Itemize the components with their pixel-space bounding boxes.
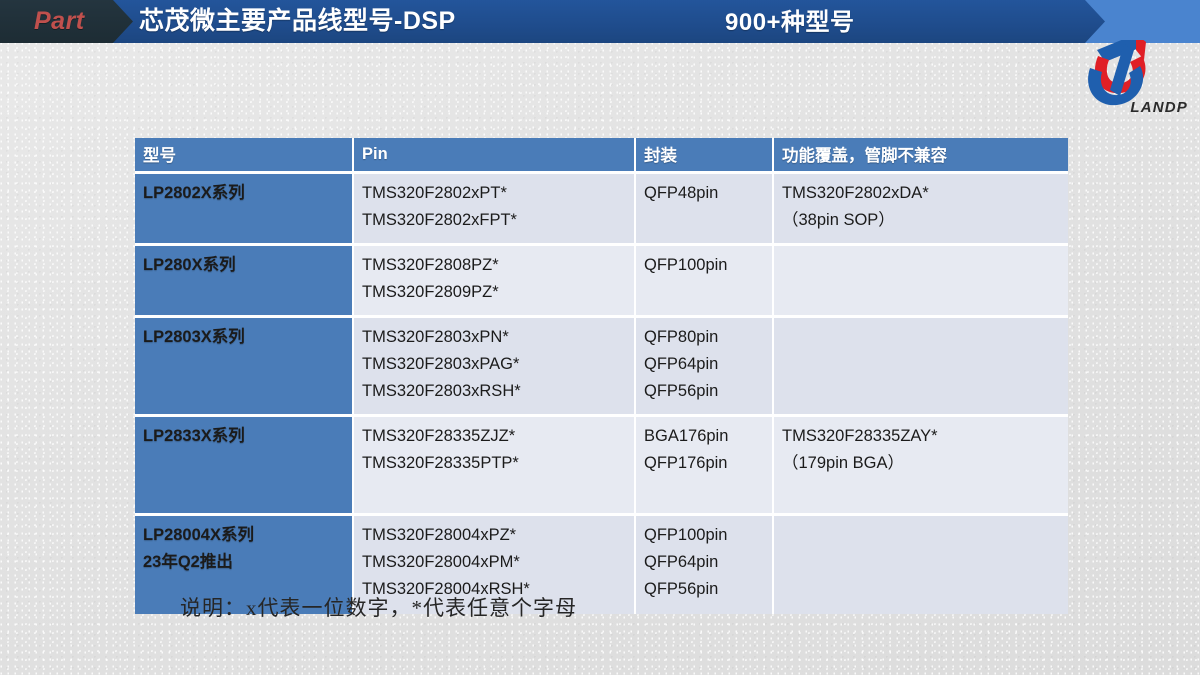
cell-package: QFP100pin (635, 245, 773, 317)
cell-pin: TMS320F28335ZJZ* TMS320F28335PTP* (353, 416, 635, 515)
cell-package: BGA176pin QFP176pin (635, 416, 773, 515)
cell-package: QFP48pin (635, 173, 773, 245)
col-header-coverage: 功能覆盖，管脚不兼容 (773, 138, 1068, 173)
cell-package: QFP80pin QFP64pin QFP56pin (635, 317, 773, 416)
header-banner: Part 芯茂微主要产品线型号-DSP 900+种型号 (0, 0, 1200, 43)
cell-pin: TMS320F2802xPT* TMS320F2802xFPT* (353, 173, 635, 245)
cell-package: QFP100pin QFP64pin QFP56pin (635, 515, 773, 614)
landp-logo: LANDP (1074, 40, 1194, 118)
slide-canvas: Part 芯茂微主要产品线型号-DSP 900+种型号 LANDP 型号 Pin… (0, 0, 1200, 675)
col-header-model: 型号 (135, 138, 353, 173)
model-count-badge: 900+种型号 (725, 6, 855, 39)
cell-pin: TMS320F2808PZ* TMS320F2809PZ* (353, 245, 635, 317)
page-title: 芯茂微主要产品线型号-DSP (139, 5, 456, 38)
cell-coverage: TMS320F28335ZAY* （179pin BGA） (773, 416, 1068, 515)
col-header-package: 封装 (635, 138, 773, 173)
col-header-pin: Pin (353, 138, 635, 173)
product-table-wrapper: 型号 Pin 封装 功能覆盖，管脚不兼容 LP2802X系列 TMS320F28… (135, 138, 1068, 614)
part-label: Part (34, 7, 85, 36)
product-line-table: 型号 Pin 封装 功能覆盖，管脚不兼容 LP2802X系列 TMS320F28… (135, 138, 1068, 614)
landp-logo-text: LANDP (1130, 99, 1188, 116)
cell-coverage (773, 515, 1068, 614)
table-row: LP2803X系列 TMS320F2803xPN* TMS320F2803xPA… (135, 317, 1068, 416)
table-row: LP2802X系列 TMS320F2802xPT* TMS320F2802xFP… (135, 173, 1068, 245)
table-header-row: 型号 Pin 封装 功能覆盖，管脚不兼容 (135, 138, 1068, 173)
cell-series: LP2833X系列 (135, 416, 353, 515)
cell-pin: TMS320F2803xPN* TMS320F2803xPAG* TMS320F… (353, 317, 635, 416)
cell-series: LP2803X系列 (135, 317, 353, 416)
cell-series: LP2802X系列 (135, 173, 353, 245)
legend-note: 说明：x代表一位数字，*代表任意个字母 (180, 592, 577, 622)
cell-series: LP280X系列 (135, 245, 353, 317)
table-row: LP280X系列 TMS320F2808PZ* TMS320F2809PZ* Q… (135, 245, 1068, 317)
cell-coverage (773, 317, 1068, 416)
cell-coverage: TMS320F2802xDA* （38pin SOP） (773, 173, 1068, 245)
cell-coverage (773, 245, 1068, 317)
table-row: LP2833X系列 TMS320F28335ZJZ* TMS320F28335P… (135, 416, 1068, 515)
